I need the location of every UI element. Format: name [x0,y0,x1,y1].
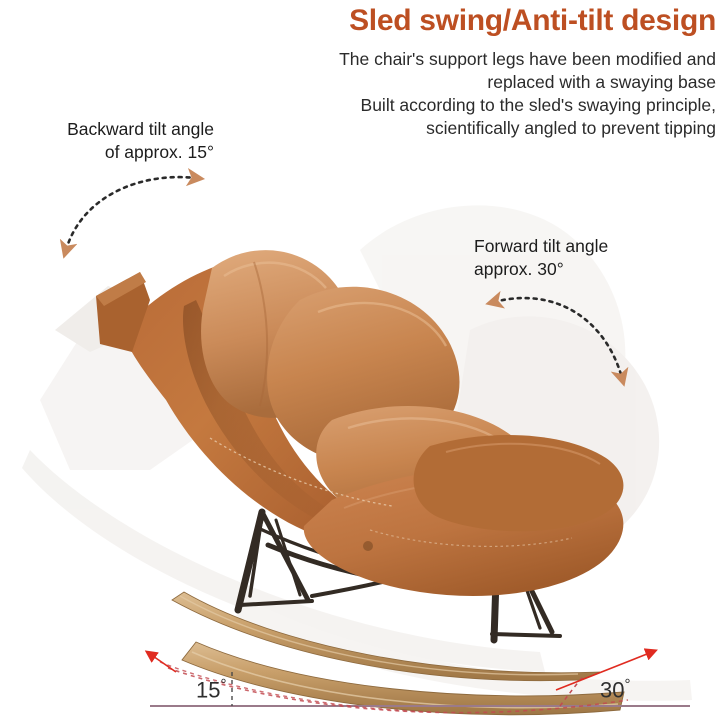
forward-tilt-line-2: approx. 30° [474,258,694,281]
backward-tilt-line-2: of approx. 15° [0,141,214,164]
ghost-chair-backward [22,286,545,672]
left-angle-value: 15 [196,677,220,702]
left-angle-degree-symbol: ° [220,676,226,693]
forward-tilt-arrow [494,298,622,378]
right-angle-arc [560,676,584,706]
page-title: Sled swing/Anti-tilt design [176,2,716,40]
right-angle-label: 30° [600,676,630,703]
left-angle-arrow [150,654,176,672]
rocker-path-guide [168,668,628,713]
chair-body [96,250,623,596]
backward-tilt-annotation: Backward tilt angle of approx. 15° [0,118,214,164]
subtitle-line-3: Built according to the sled's swaying pr… [176,94,716,117]
subtitle-line-1: The chair's support legs have been modif… [176,48,716,71]
backward-tilt-arrow [66,177,196,250]
subtitle-line-2: replaced with a swaying base [176,71,716,94]
rocker-runner-back [172,592,600,681]
metal-leg-frame [238,512,560,640]
backward-tilt-line-1: Backward tilt angle [0,118,214,141]
right-angle-value: 30 [600,677,624,702]
left-angle-label: 15° [196,676,226,703]
page-subtitle: The chair's support legs have been modif… [176,48,716,140]
infographic-canvas: Sled swing/Anti-tilt design The chair's … [0,0,720,720]
forward-tilt-annotation: Forward tilt angle approx. 30° [474,235,694,281]
header-block: Sled swing/Anti-tilt design The chair's … [176,2,716,140]
rocker-runner-front [182,642,624,715]
forward-tilt-line-1: Forward tilt angle [474,235,694,258]
subtitle-line-4: scientifically angled to prevent tipping [176,117,716,140]
right-angle-degree-symbol: ° [624,676,630,693]
